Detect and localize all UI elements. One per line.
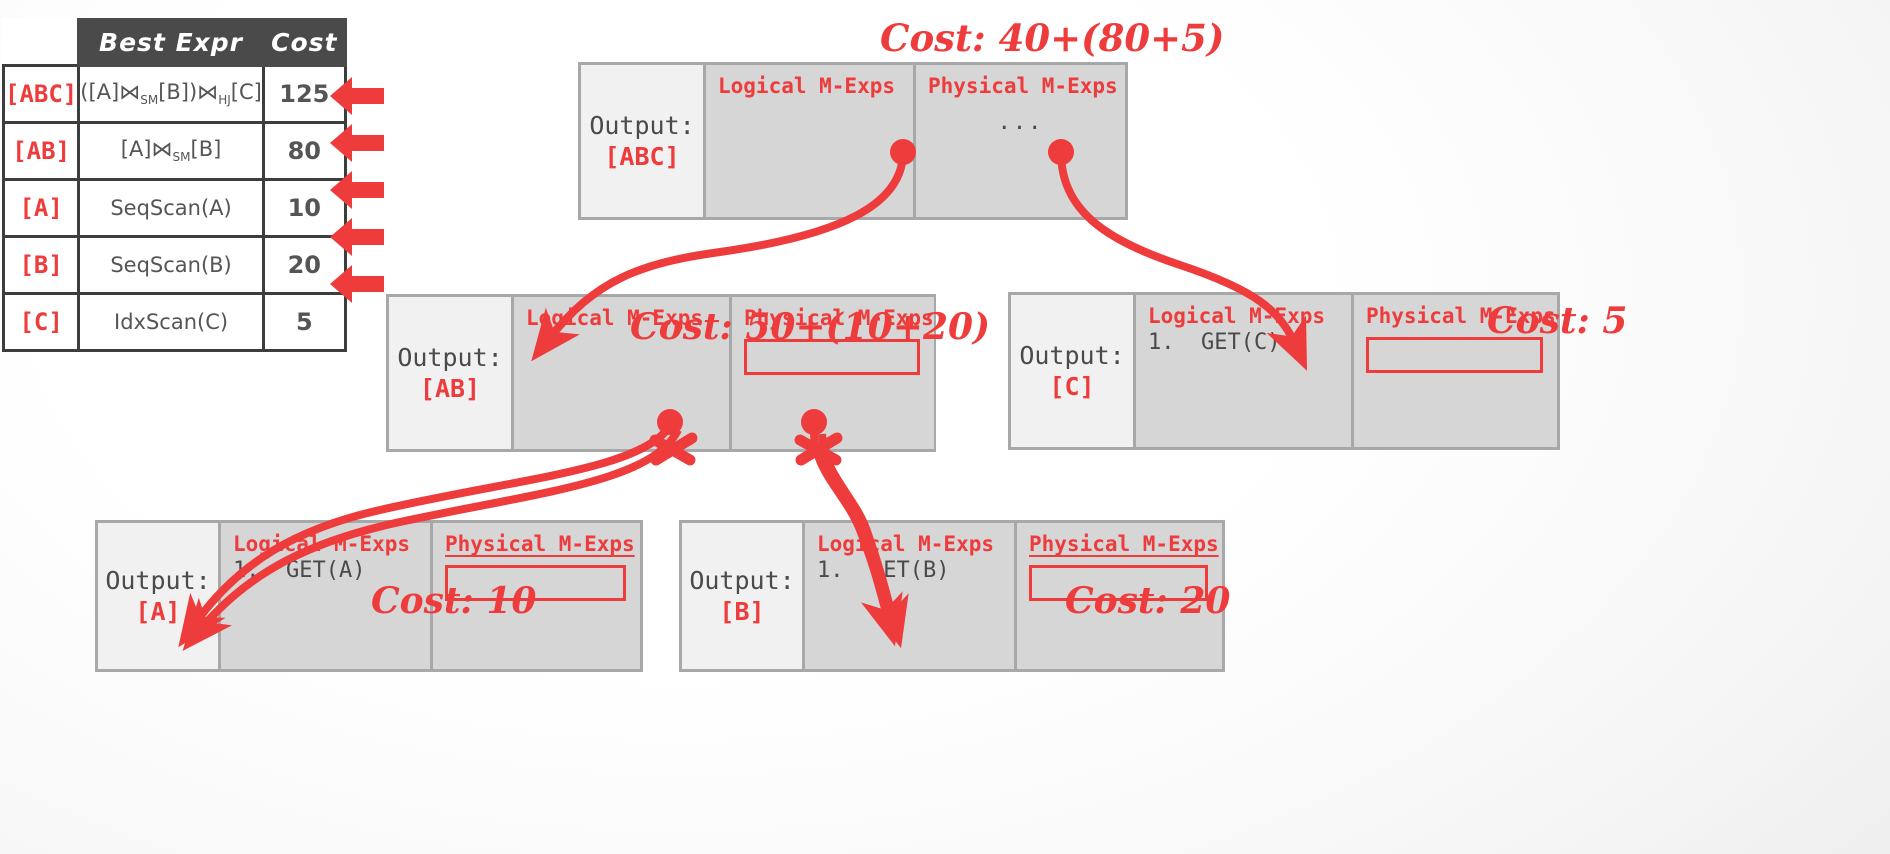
output-label: Output: bbox=[689, 565, 794, 596]
table-cell-group: [A] bbox=[4, 180, 79, 237]
row-pointer-arrow-c bbox=[330, 263, 384, 305]
table-cell-best-expr: ([A]⋈SM[B])⋈HJ[C] bbox=[79, 66, 264, 123]
table-cell-group: [AB] bbox=[4, 123, 79, 180]
output-group-id: [ABC] bbox=[604, 141, 679, 172]
physical-mexps-cell-abc[interactable]: Physical M-Exps... bbox=[916, 65, 1125, 217]
cost-caption-abc: Cost: 40+(80+5) bbox=[880, 16, 1224, 60]
physical-mexps-header: Physical M-Exps bbox=[433, 523, 640, 556]
output-group-id: [A] bbox=[135, 596, 180, 627]
table-cell-best-expr: IdxScan(C) bbox=[79, 294, 264, 351]
output-group-id: [B] bbox=[719, 596, 764, 627]
row-pointer-arrow-b bbox=[330, 216, 384, 258]
logical-mexps-header: Logical M-Exps bbox=[805, 523, 1014, 556]
cost-caption-c: Cost: 5 bbox=[1487, 300, 1627, 342]
row-pointer-arrow-ab bbox=[330, 122, 384, 164]
table-row: [A]SeqScan(A)10 bbox=[4, 180, 346, 237]
table-header-best-expr: Best Expr bbox=[79, 20, 264, 66]
table-cell-group: [ABC] bbox=[4, 66, 79, 123]
table-cell-group: [C] bbox=[4, 294, 79, 351]
diagram-canvas: Best Expr Cost [ABC]([A]⋈SM[B])⋈HJ[C]125… bbox=[0, 0, 1890, 854]
physical-mexps-header: Physical M-Exps bbox=[916, 65, 1125, 98]
logical-mexp-item[interactable]: 1. GET(B) bbox=[805, 556, 1014, 583]
group-output-cell-abc: Output:[ABC] bbox=[581, 65, 706, 217]
table-cell-best-expr: SeqScan(A) bbox=[79, 180, 264, 237]
cost-caption-a: Cost: 10 bbox=[371, 580, 536, 622]
group-output-cell-b: Output:[B] bbox=[682, 523, 805, 669]
logical-mexps-header: Logical M-Exps bbox=[1136, 295, 1351, 328]
table-cell-best-expr: [A]⋈SM[B] bbox=[79, 123, 264, 180]
table-header-row: Best Expr Cost bbox=[4, 20, 346, 66]
group-output-cell-c: Output:[C] bbox=[1011, 295, 1136, 447]
table-row: [AB][A]⋈SM[B]80 bbox=[4, 123, 346, 180]
logical-mexps-cell-c[interactable]: Logical M-Exps1. GET(C) bbox=[1136, 295, 1354, 447]
cost-caption-b: Cost: 20 bbox=[1065, 580, 1230, 622]
logical-mexp-item[interactable]: 1. GET(A) bbox=[221, 556, 430, 583]
output-group-id: [AB] bbox=[420, 373, 480, 404]
output-group-id: [C] bbox=[1049, 371, 1094, 402]
row-pointer-arrow-abc bbox=[330, 75, 384, 117]
cost-caption-ab: Cost: 50+(10+20) bbox=[630, 306, 990, 348]
physical-mexps-header: Physical M-Exps bbox=[1017, 523, 1222, 556]
output-label: Output: bbox=[1019, 340, 1124, 371]
memo-group-abc[interactable]: Output:[ABC]Logical M-ExpsPhysical M-Exp… bbox=[578, 62, 1128, 220]
logical-mexps-cell-b[interactable]: Logical M-Exps1. GET(B) bbox=[805, 523, 1017, 669]
output-label: Output: bbox=[397, 342, 502, 373]
table-row: [ABC]([A]⋈SM[B])⋈HJ[C]125 bbox=[4, 66, 346, 123]
best-expr-table: Best Expr Cost [ABC]([A]⋈SM[B])⋈HJ[C]125… bbox=[2, 18, 347, 352]
group-output-cell-ab: Output:[AB] bbox=[389, 297, 514, 449]
memo-group-c[interactable]: Output:[C]Logical M-Exps1. GET(C)Physica… bbox=[1008, 292, 1560, 450]
logical-mexps-header: Logical M-Exps bbox=[706, 65, 913, 98]
memo-group-a[interactable]: Output:[A]Logical M-Exps1. GET(A)Physica… bbox=[95, 520, 643, 672]
physical-mexp-item: ... bbox=[916, 98, 1125, 135]
row-pointer-arrow-a bbox=[330, 169, 384, 211]
table-row: [C]IdxScan(C)5 bbox=[4, 294, 346, 351]
table-cell-best-expr: SeqScan(B) bbox=[79, 237, 264, 294]
logical-mexp-item[interactable]: 1. GET(C) bbox=[1136, 328, 1351, 355]
table-body: [ABC]([A]⋈SM[B])⋈HJ[C]125[AB][A]⋈SM[B]80… bbox=[4, 66, 346, 351]
table-header-cost: Cost bbox=[263, 20, 345, 66]
group-output-cell-a: Output:[A] bbox=[98, 523, 221, 669]
table-cell-group: [B] bbox=[4, 237, 79, 294]
table-corner-cell bbox=[4, 20, 79, 66]
logical-mexps-cell-abc[interactable]: Logical M-Exps bbox=[706, 65, 916, 217]
physical-mexp-placeholder-box[interactable] bbox=[1366, 337, 1543, 373]
output-label: Output: bbox=[105, 565, 210, 596]
output-label: Output: bbox=[589, 110, 694, 141]
table-row: [B]SeqScan(B)20 bbox=[4, 237, 346, 294]
logical-mexps-header: Logical M-Exps bbox=[221, 523, 430, 556]
